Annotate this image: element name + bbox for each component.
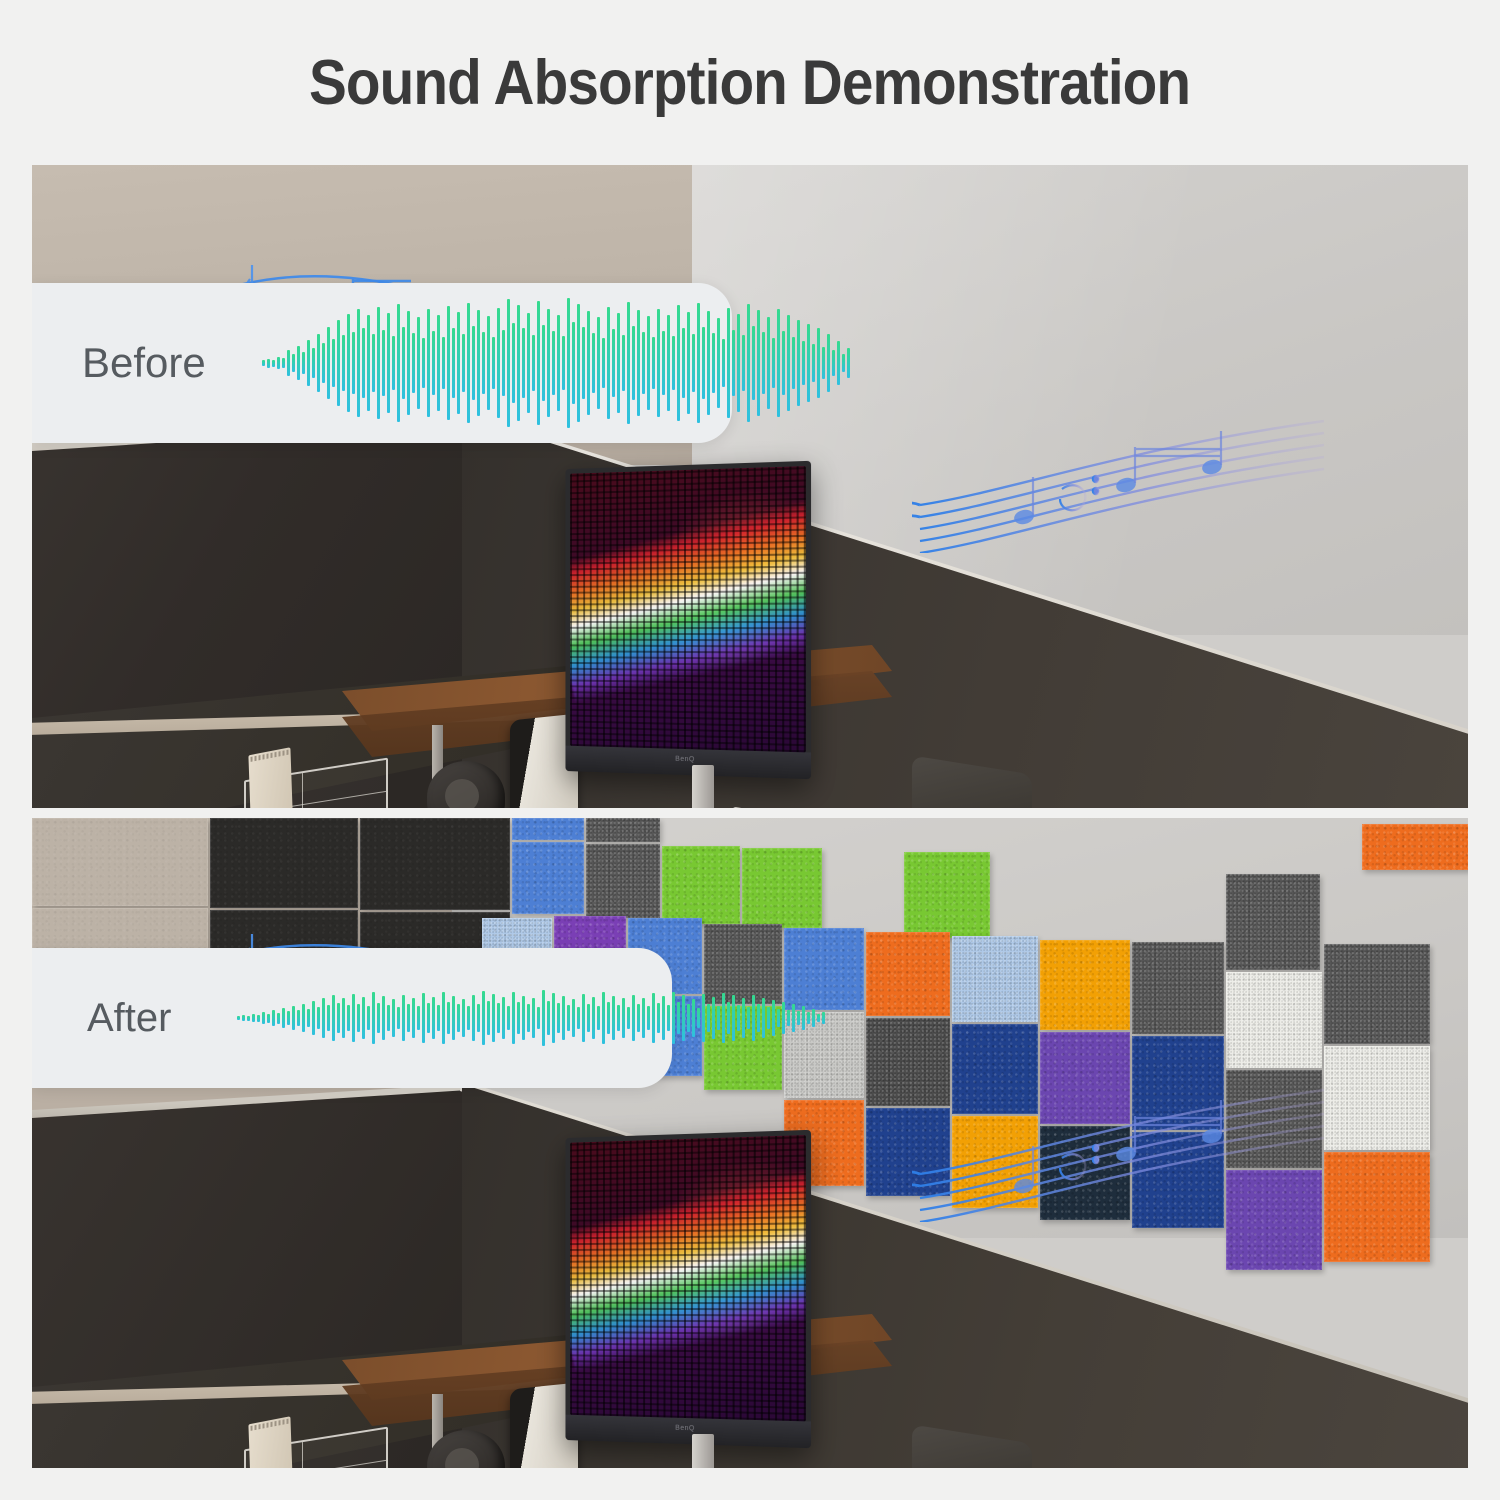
- acoustic-panel: [1132, 942, 1224, 1034]
- waveform-bar: [312, 348, 315, 378]
- waveform-bar: [777, 309, 780, 417]
- equalizer-pixel-grid: [570, 466, 806, 752]
- waveform-bar: [582, 327, 585, 399]
- waveform-bar: [552, 331, 555, 395]
- waveform-bar: [382, 996, 385, 1040]
- waveform-bar: [682, 995, 685, 1041]
- waveform-bar: [672, 336, 675, 390]
- waveform-bar: [562, 996, 565, 1040]
- waveform-bar: [762, 998, 765, 1038]
- waveform-bar: [817, 1014, 820, 1022]
- waveform-bar: [537, 1007, 540, 1029]
- waveform-bar: [467, 1006, 470, 1030]
- waveform-bar: [432, 331, 435, 395]
- waveform-bar: [462, 999, 465, 1037]
- waveform-bar: [282, 358, 285, 368]
- waveform-bar: [452, 328, 455, 398]
- monitor-stand-neck: [692, 765, 714, 808]
- waveform-bar: [537, 301, 540, 425]
- waveform-bar: [687, 312, 690, 414]
- waveform-bar: [472, 326, 475, 400]
- acoustic-panel: [210, 818, 358, 908]
- waveform-bar: [592, 997, 595, 1039]
- equalizer-pixel-grid: [570, 1135, 806, 1421]
- acoustic-panel: [1132, 1132, 1224, 1228]
- waveform-bar: [412, 998, 415, 1038]
- waveform-bar: [827, 334, 830, 392]
- acoustic-panel: [1226, 1070, 1322, 1168]
- waveform-bar: [712, 333, 715, 393]
- waveform-bar: [482, 991, 485, 1045]
- waveform-bar: [652, 993, 655, 1043]
- waveform-bar: [447, 306, 450, 420]
- waveform-bar: [492, 994, 495, 1042]
- waveform-bar: [567, 1005, 570, 1031]
- waveform-bar: [492, 337, 495, 389]
- waveform-bar: [287, 1011, 290, 1025]
- waveform-bar: [657, 1003, 660, 1033]
- waveform-bar: [302, 1004, 305, 1032]
- waveform-bar: [377, 1003, 380, 1033]
- monitor-brand-logo: BenQ: [675, 756, 695, 764]
- waveform-bar: [597, 317, 600, 409]
- waveform-bar: [697, 1008, 700, 1028]
- waveform-bar: [297, 1010, 300, 1026]
- waveform-bar: [387, 313, 390, 413]
- waveform-bar: [577, 1007, 580, 1029]
- waveform-bar: [362, 997, 365, 1039]
- waveform-bar: [772, 338, 775, 388]
- waveform-bar: [637, 1004, 640, 1032]
- waveform-bar: [782, 331, 785, 395]
- acoustic-panel: [952, 1116, 1038, 1208]
- waveform-bar: [327, 327, 330, 399]
- waveform-bar: [782, 1002, 785, 1034]
- waveform-bar: [622, 335, 625, 391]
- curved-gaming-monitor: BenQ: [565, 1130, 811, 1448]
- acoustic-panel: [1040, 940, 1130, 1030]
- waveform-bar: [677, 305, 680, 421]
- waveform-bar: [452, 996, 455, 1040]
- waveform-bar: [822, 347, 825, 379]
- acoustic-panel: [662, 846, 740, 924]
- waveform-bar: [787, 315, 790, 411]
- waveform-bar: [742, 998, 745, 1038]
- waveform-bar: [717, 1006, 720, 1030]
- acoustic-panel: [866, 1108, 950, 1196]
- waveform-bar: [277, 357, 280, 369]
- acoustic-panel: [1040, 1126, 1130, 1220]
- waveform-bar: [587, 311, 590, 415]
- waveform-bar: [477, 1004, 480, 1032]
- acoustic-panel: [360, 818, 510, 910]
- waveform-bar: [362, 328, 365, 398]
- acoustic-panel: [512, 842, 584, 914]
- waveform-bar: [287, 350, 290, 376]
- waveform-bar: [687, 1004, 690, 1032]
- waveform-bar: [777, 1009, 780, 1027]
- waveform-bar: [812, 344, 815, 382]
- waveform-bar: [242, 1015, 245, 1021]
- waveform-bar: [262, 1012, 265, 1024]
- waveform-bar: [457, 1004, 460, 1032]
- waveform-bar: [637, 310, 640, 416]
- waveform-bar: [257, 1015, 260, 1022]
- waveform-bar: [667, 315, 670, 411]
- waveform-bar: [477, 310, 480, 416]
- waveform-bar: [812, 1009, 815, 1027]
- waveform-bar: [597, 1006, 600, 1030]
- acoustic-panel: [1362, 824, 1468, 870]
- waveform-bar: [407, 311, 410, 415]
- waveform-bar: [497, 308, 500, 418]
- waveform-bar: [432, 997, 435, 1039]
- waveform-bar: [657, 309, 660, 417]
- waveform-bar: [427, 1003, 430, 1033]
- waveform-bar: [647, 1006, 650, 1030]
- waveform-bar: [322, 343, 325, 383]
- waveform-bar: [697, 303, 700, 423]
- waveform-bar: [607, 307, 610, 419]
- acoustic-panel: [1226, 874, 1320, 970]
- waveform-bar: [312, 1001, 315, 1035]
- waveform-bar: [437, 1005, 440, 1031]
- waveform-bar: [712, 997, 715, 1039]
- acoustic-panel: [32, 818, 208, 906]
- waveform-bar: [822, 1012, 825, 1024]
- acoustic-panel: [952, 936, 1038, 1022]
- waveform-bar: [327, 1005, 330, 1031]
- waveform-bar: [292, 354, 295, 372]
- acoustic-panel: [904, 852, 990, 938]
- waveform-bar: [392, 336, 395, 390]
- waveform-bar: [642, 998, 645, 1038]
- waveform-bar: [337, 1003, 340, 1033]
- waveform-bar: [702, 327, 705, 399]
- waveform-bar: [792, 1004, 795, 1032]
- waveform-bar: [447, 1002, 450, 1034]
- waveform-bar: [542, 990, 545, 1046]
- waveform-bar: [617, 1005, 620, 1031]
- waveform-bar: [557, 1003, 560, 1033]
- waveform-bar: [402, 327, 405, 399]
- waveform-bar: [302, 352, 305, 374]
- notepad: [248, 1416, 293, 1468]
- waveform-bar: [747, 1007, 750, 1029]
- waveform-bar: [417, 1006, 420, 1030]
- waveform-bar: [547, 1001, 550, 1035]
- waveform-bar: [652, 337, 655, 389]
- acoustic-panel: [1324, 1046, 1430, 1150]
- waveform-bar: [677, 1002, 680, 1034]
- waveform-bar: [552, 993, 555, 1043]
- waveform-bar: [542, 325, 545, 401]
- waveform-bar: [847, 348, 850, 378]
- waveform-bar: [332, 339, 335, 387]
- waveform-bar: [332, 995, 335, 1041]
- waveform-bar: [757, 1004, 760, 1032]
- notepad: [248, 747, 293, 808]
- waveform-bar: [752, 995, 755, 1041]
- monitor-screen: [570, 1135, 806, 1421]
- waveform-bar: [722, 339, 725, 387]
- acoustic-panel: [1226, 972, 1322, 1068]
- waveform-bar: [632, 995, 635, 1041]
- after-waveform-card: After: [32, 948, 672, 1088]
- waveform-bar: [472, 995, 475, 1041]
- waveform-bar: [642, 332, 645, 394]
- waveform-bar: [607, 1002, 610, 1034]
- waveform-bar: [237, 1016, 240, 1020]
- waveform-bar: [397, 304, 400, 422]
- waveform-bar: [387, 1005, 390, 1031]
- waveform-bar: [647, 316, 650, 410]
- waveform-bar: [797, 1011, 800, 1025]
- waveform-bar: [342, 998, 345, 1038]
- waveform-bar: [832, 350, 835, 376]
- waveform-bar: [707, 1004, 710, 1032]
- acoustic-panel: [1040, 1032, 1130, 1124]
- waveform-bar: [807, 324, 810, 402]
- waveform-bar: [307, 340, 310, 386]
- waveform-bar: [792, 337, 795, 389]
- waveform-bar: [417, 317, 420, 409]
- monitor-stand-neck: [692, 1434, 714, 1468]
- waveform-bar: [412, 333, 415, 393]
- waveform-bar: [547, 309, 550, 417]
- waveform-bar: [507, 299, 510, 427]
- waveform-bar: [617, 313, 620, 413]
- waveform-bar: [247, 1016, 250, 1021]
- waveform-bar: [252, 1014, 255, 1022]
- waveform-bar: [267, 359, 270, 368]
- waveform-bar: [307, 1009, 310, 1027]
- waveform-bar: [372, 992, 375, 1044]
- waveform-bar: [762, 332, 765, 394]
- waveform-bar: [752, 326, 755, 400]
- waveform-bar: [662, 996, 665, 1040]
- waveform-bar: [627, 1007, 630, 1029]
- waveform-bar: [347, 314, 350, 412]
- waveform-bar: [392, 999, 395, 1037]
- acoustic-panel: [866, 932, 950, 1016]
- waveform-bar: [527, 1004, 530, 1032]
- waveform-bar: [667, 1005, 670, 1031]
- acoustic-panel: [586, 818, 660, 842]
- waveform-bar: [487, 1001, 490, 1035]
- waveform-bar: [337, 320, 340, 406]
- waveform-bar: [577, 304, 580, 422]
- before-waveform-card: Before: [32, 283, 732, 443]
- waveform-bar: [437, 315, 440, 411]
- acoustic-panel: [952, 1024, 1038, 1114]
- curved-gaming-monitor: BenQ: [565, 461, 811, 779]
- waveform-bar: [352, 332, 355, 394]
- waveform-bar: [512, 992, 515, 1044]
- waveform-bar: [557, 315, 560, 411]
- waveform-bar: [582, 994, 585, 1042]
- waveform-bar: [842, 354, 845, 372]
- waveform-bar: [692, 334, 695, 392]
- waveform-bar: [747, 304, 750, 422]
- waveform-bar: [802, 1006, 805, 1030]
- waveform-bar: [787, 1010, 790, 1026]
- acoustic-panel: [1132, 1036, 1224, 1130]
- waveform-bar: [282, 1008, 285, 1028]
- waveform-bar: [422, 338, 425, 388]
- waveform-bar: [612, 996, 615, 1040]
- after-waveform: [237, 948, 855, 1088]
- monitor-screen: [570, 466, 806, 752]
- waveform-bar: [517, 1002, 520, 1034]
- acoustic-panel: [1324, 1152, 1430, 1262]
- page-header: Sound Absorption Demonstration: [0, 0, 1500, 165]
- waveform-bar: [522, 996, 525, 1040]
- waveform-bar: [837, 341, 840, 385]
- waveform-bar: [592, 333, 595, 393]
- waveform-bar: [292, 1006, 295, 1030]
- waveform-bar: [802, 341, 805, 385]
- waveform-bar: [422, 993, 425, 1043]
- waveform-bar: [587, 1004, 590, 1032]
- waveform-bar: [507, 1006, 510, 1030]
- waveform-bar: [717, 318, 720, 408]
- acoustic-panel: [586, 844, 660, 918]
- waveform-bar: [742, 335, 745, 391]
- waveform-bar: [727, 1002, 730, 1034]
- waveform-bar: [407, 1004, 410, 1032]
- acoustic-panel: [512, 818, 584, 840]
- waveform-bar: [527, 313, 530, 413]
- waveform-bar: [342, 335, 345, 391]
- waveform-bar: [767, 1007, 770, 1029]
- waveform-bar: [317, 334, 320, 392]
- waveform-bar: [807, 1012, 810, 1024]
- waveform-bar: [517, 305, 520, 421]
- monitor-brand-logo: BenQ: [675, 1425, 695, 1433]
- waveform-bar: [672, 992, 675, 1044]
- waveform-bar: [352, 994, 355, 1042]
- waveform-bar: [357, 309, 360, 417]
- waveform-bar: [512, 323, 515, 403]
- page-title: Sound Absorption Demonstration: [309, 47, 1190, 119]
- waveform-bar: [572, 999, 575, 1037]
- waveform-bar: [272, 360, 275, 367]
- waveform-bar: [277, 1013, 280, 1024]
- waveform-bar: [267, 1014, 270, 1023]
- waveform-bar: [382, 330, 385, 396]
- waveform-bar: [817, 328, 820, 398]
- waveform-bar: [767, 317, 770, 409]
- waveform-bar: [442, 992, 445, 1044]
- waveform-bar: [297, 346, 300, 380]
- waveform-bar: [427, 309, 430, 417]
- waveform-bar: [402, 995, 405, 1041]
- waveform-bar: [467, 303, 470, 423]
- waveform-bar: [317, 1007, 320, 1029]
- waveform-bar: [532, 335, 535, 391]
- before-waveform: [262, 283, 880, 443]
- waveform-bar: [522, 328, 525, 398]
- waveform-bar: [372, 334, 375, 392]
- waveform-bar: [397, 1007, 400, 1029]
- waveform-bar: [532, 998, 535, 1038]
- waveform-bar: [567, 298, 570, 428]
- waveform-bar: [737, 1005, 740, 1031]
- waveform-bar: [732, 995, 735, 1041]
- waveform-bar: [682, 328, 685, 398]
- acoustic-panel: [1226, 1170, 1322, 1270]
- waveform-bar: [497, 1003, 500, 1033]
- waveform-bar: [502, 330, 505, 396]
- acoustic-panel: [1324, 944, 1430, 1044]
- waveform-bar: [797, 320, 800, 406]
- waveform-bar: [272, 1010, 275, 1026]
- waveform-bar: [487, 316, 490, 410]
- waveform-bar: [622, 998, 625, 1038]
- waveform-bar: [322, 998, 325, 1038]
- waveform-bar: [367, 1006, 370, 1030]
- waveform-bar: [357, 1004, 360, 1032]
- acoustic-panel: [742, 848, 822, 928]
- waveform-bar: [772, 1000, 775, 1036]
- waveform-bar: [662, 331, 665, 395]
- waveform-bar: [722, 993, 725, 1043]
- before-label: Before: [82, 339, 262, 387]
- waveform-bar: [632, 326, 635, 400]
- waveform-bar: [377, 307, 380, 419]
- scene-after-photo: BenQ: [32, 818, 1468, 1468]
- waveform-bar: [442, 337, 445, 389]
- waveform-bar: [757, 310, 760, 416]
- waveform-bar: [737, 314, 740, 412]
- scene-before-photo: BenQ: [32, 165, 1468, 808]
- waveform-bar: [347, 1005, 350, 1031]
- waveform-bar: [562, 336, 565, 390]
- waveform-bar: [707, 311, 710, 415]
- waveform-bar: [727, 308, 730, 418]
- waveform-bar: [602, 992, 605, 1044]
- waveform-bar: [732, 330, 735, 396]
- acoustic-panel: [866, 1018, 950, 1106]
- waveform-bar: [602, 338, 605, 388]
- waveform-bar: [702, 994, 705, 1042]
- waveform-bar: [692, 999, 695, 1037]
- waveform-bar: [367, 315, 370, 411]
- waveform-bar: [462, 334, 465, 392]
- waveform-bar: [457, 312, 460, 414]
- waveform-bar: [572, 322, 575, 404]
- waveform-bar: [502, 997, 505, 1039]
- waveform-bar: [482, 332, 485, 394]
- waveform-bar: [612, 329, 615, 397]
- waveform-bar: [262, 360, 265, 366]
- after-label: After: [87, 996, 237, 1041]
- waveform-bar: [627, 302, 630, 424]
